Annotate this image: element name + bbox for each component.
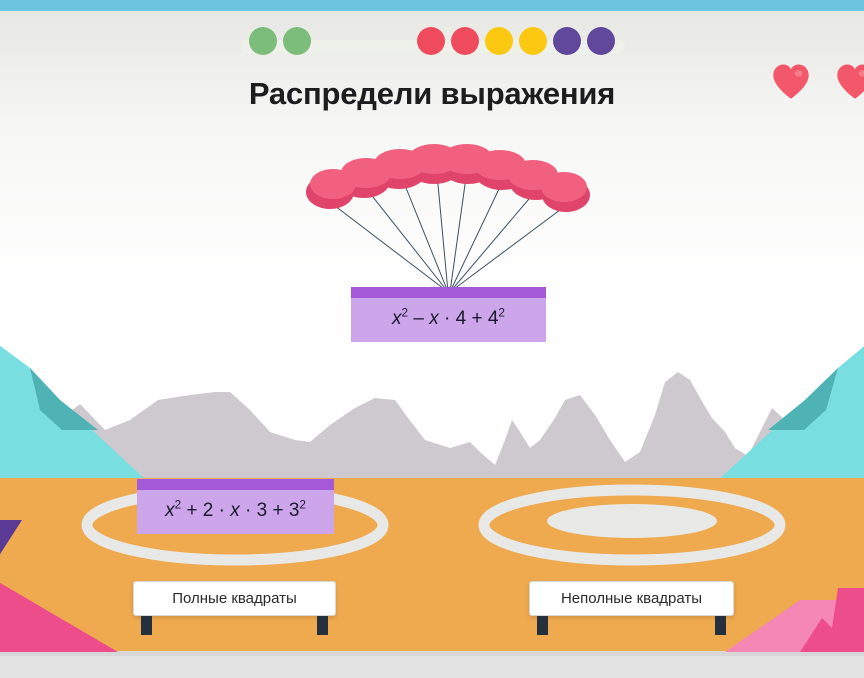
heart-icon [834,62,864,100]
expression-card-flying[interactable]: x2 – x · 4 + 42 [351,296,546,342]
game-screen: Распредели выражения x2 – x · 4 + 42 x2 … [0,0,864,678]
parachute-canopy [306,144,590,212]
card-lid [137,479,334,490]
page-title: Распредели выражения [0,76,864,112]
sign-legs [133,616,336,636]
heart-icon [770,62,812,100]
expr-token: x2 – x · 4 + 42 [392,308,505,330]
sign-leg [141,616,152,635]
lives-counter [770,62,864,104]
drop-zone-right[interactable]: Неполные квадраты [529,581,734,636]
sign-leg [317,616,328,635]
gray-mountain-ridge [0,372,864,480]
progress-dot-4 [451,27,479,55]
drop-zone-right-label: Неполные квадраты [529,581,734,616]
progress-dot-3 [417,27,445,55]
progress-dot-8 [587,27,615,55]
expression-card-placed-left[interactable]: x2 + 2 · x · 3 + 32 [137,488,334,534]
expr-token: x2 + 2 · x · 3 + 32 [165,500,306,522]
progress-dot-2 [283,27,311,55]
sign-leg [715,616,726,635]
drop-zone-left[interactable]: Полные квадраты [133,581,336,636]
progress-dot-6 [519,27,547,55]
progress-dot-7 [553,27,581,55]
card-expression-left: x2 + 2 · x · 3 + 32 [137,488,334,534]
drop-zone-left-label: Полные квадраты [133,581,336,616]
card-expression-flying: x2 – x · 4 + 42 [351,296,546,342]
drop-target-inner-right[interactable] [547,504,717,538]
sign-legs [529,616,734,636]
sign-leg [537,616,548,635]
progress-dot-5 [485,27,513,55]
card-lid [351,287,546,298]
progress-dot-1 [249,27,277,55]
